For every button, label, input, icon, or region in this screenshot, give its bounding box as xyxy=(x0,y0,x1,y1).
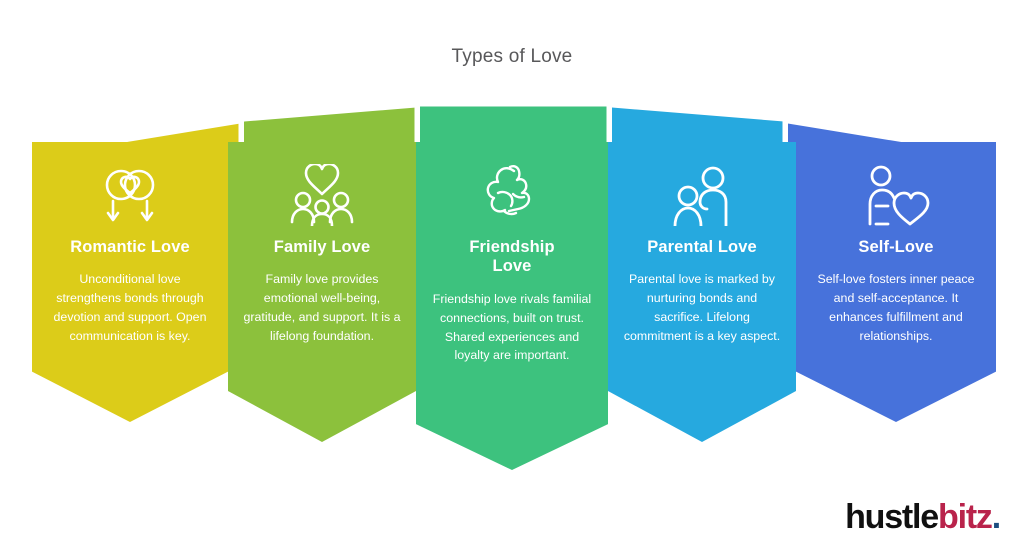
logo-text-primary: hustle xyxy=(845,498,938,536)
panel-description: Parental love is marked by nurturing bon… xyxy=(622,270,782,345)
panel-description: Family love provides emotional well-bein… xyxy=(242,270,402,345)
panel-title: Friendship Love xyxy=(452,238,572,277)
panel-description: Friendship love rivals familial connecti… xyxy=(432,290,592,365)
page-title: Types of Love xyxy=(0,46,1024,68)
infographic-canvas: Types of Love xyxy=(0,0,1024,548)
panel-friendship-love[interactable]: Friendship Love Friendship love rivals f… xyxy=(416,142,608,470)
panel-parental-love[interactable]: Parental Love Parental love is marked by… xyxy=(608,142,796,442)
panel-description: Unconditional love strengthens bonds thr… xyxy=(50,270,210,345)
panel-title: Romantic Love xyxy=(70,238,190,257)
panel-romantic-love[interactable]: Romantic Love Unconditional love strengt… xyxy=(32,142,228,422)
panel-title: Family Love xyxy=(274,238,370,257)
logo-dot: . xyxy=(992,498,1000,536)
panel-description: Self-love fosters inner peace and self-a… xyxy=(816,270,976,345)
panel-title: Parental Love xyxy=(647,238,757,257)
banner-columns: Romantic Love Unconditional love strengt… xyxy=(0,142,1024,472)
logo-text-accent: bitz xyxy=(938,498,992,536)
family-with-heart-icon xyxy=(242,156,402,234)
hustlebitz-logo[interactable]: hustlebitz. xyxy=(845,500,1000,534)
panel-self-love[interactable]: Self-Love Self-love fosters inner peace … xyxy=(796,142,996,422)
two-hearts-gender-symbols-icon xyxy=(46,156,214,234)
panel-title: Self-Love xyxy=(858,238,933,257)
parent-and-child-icon xyxy=(622,156,782,234)
person-with-heart-icon xyxy=(810,156,982,234)
interlocking-hands-icon xyxy=(430,156,594,234)
panel-family-love[interactable]: Family Love Family love provides emotion… xyxy=(228,142,416,442)
